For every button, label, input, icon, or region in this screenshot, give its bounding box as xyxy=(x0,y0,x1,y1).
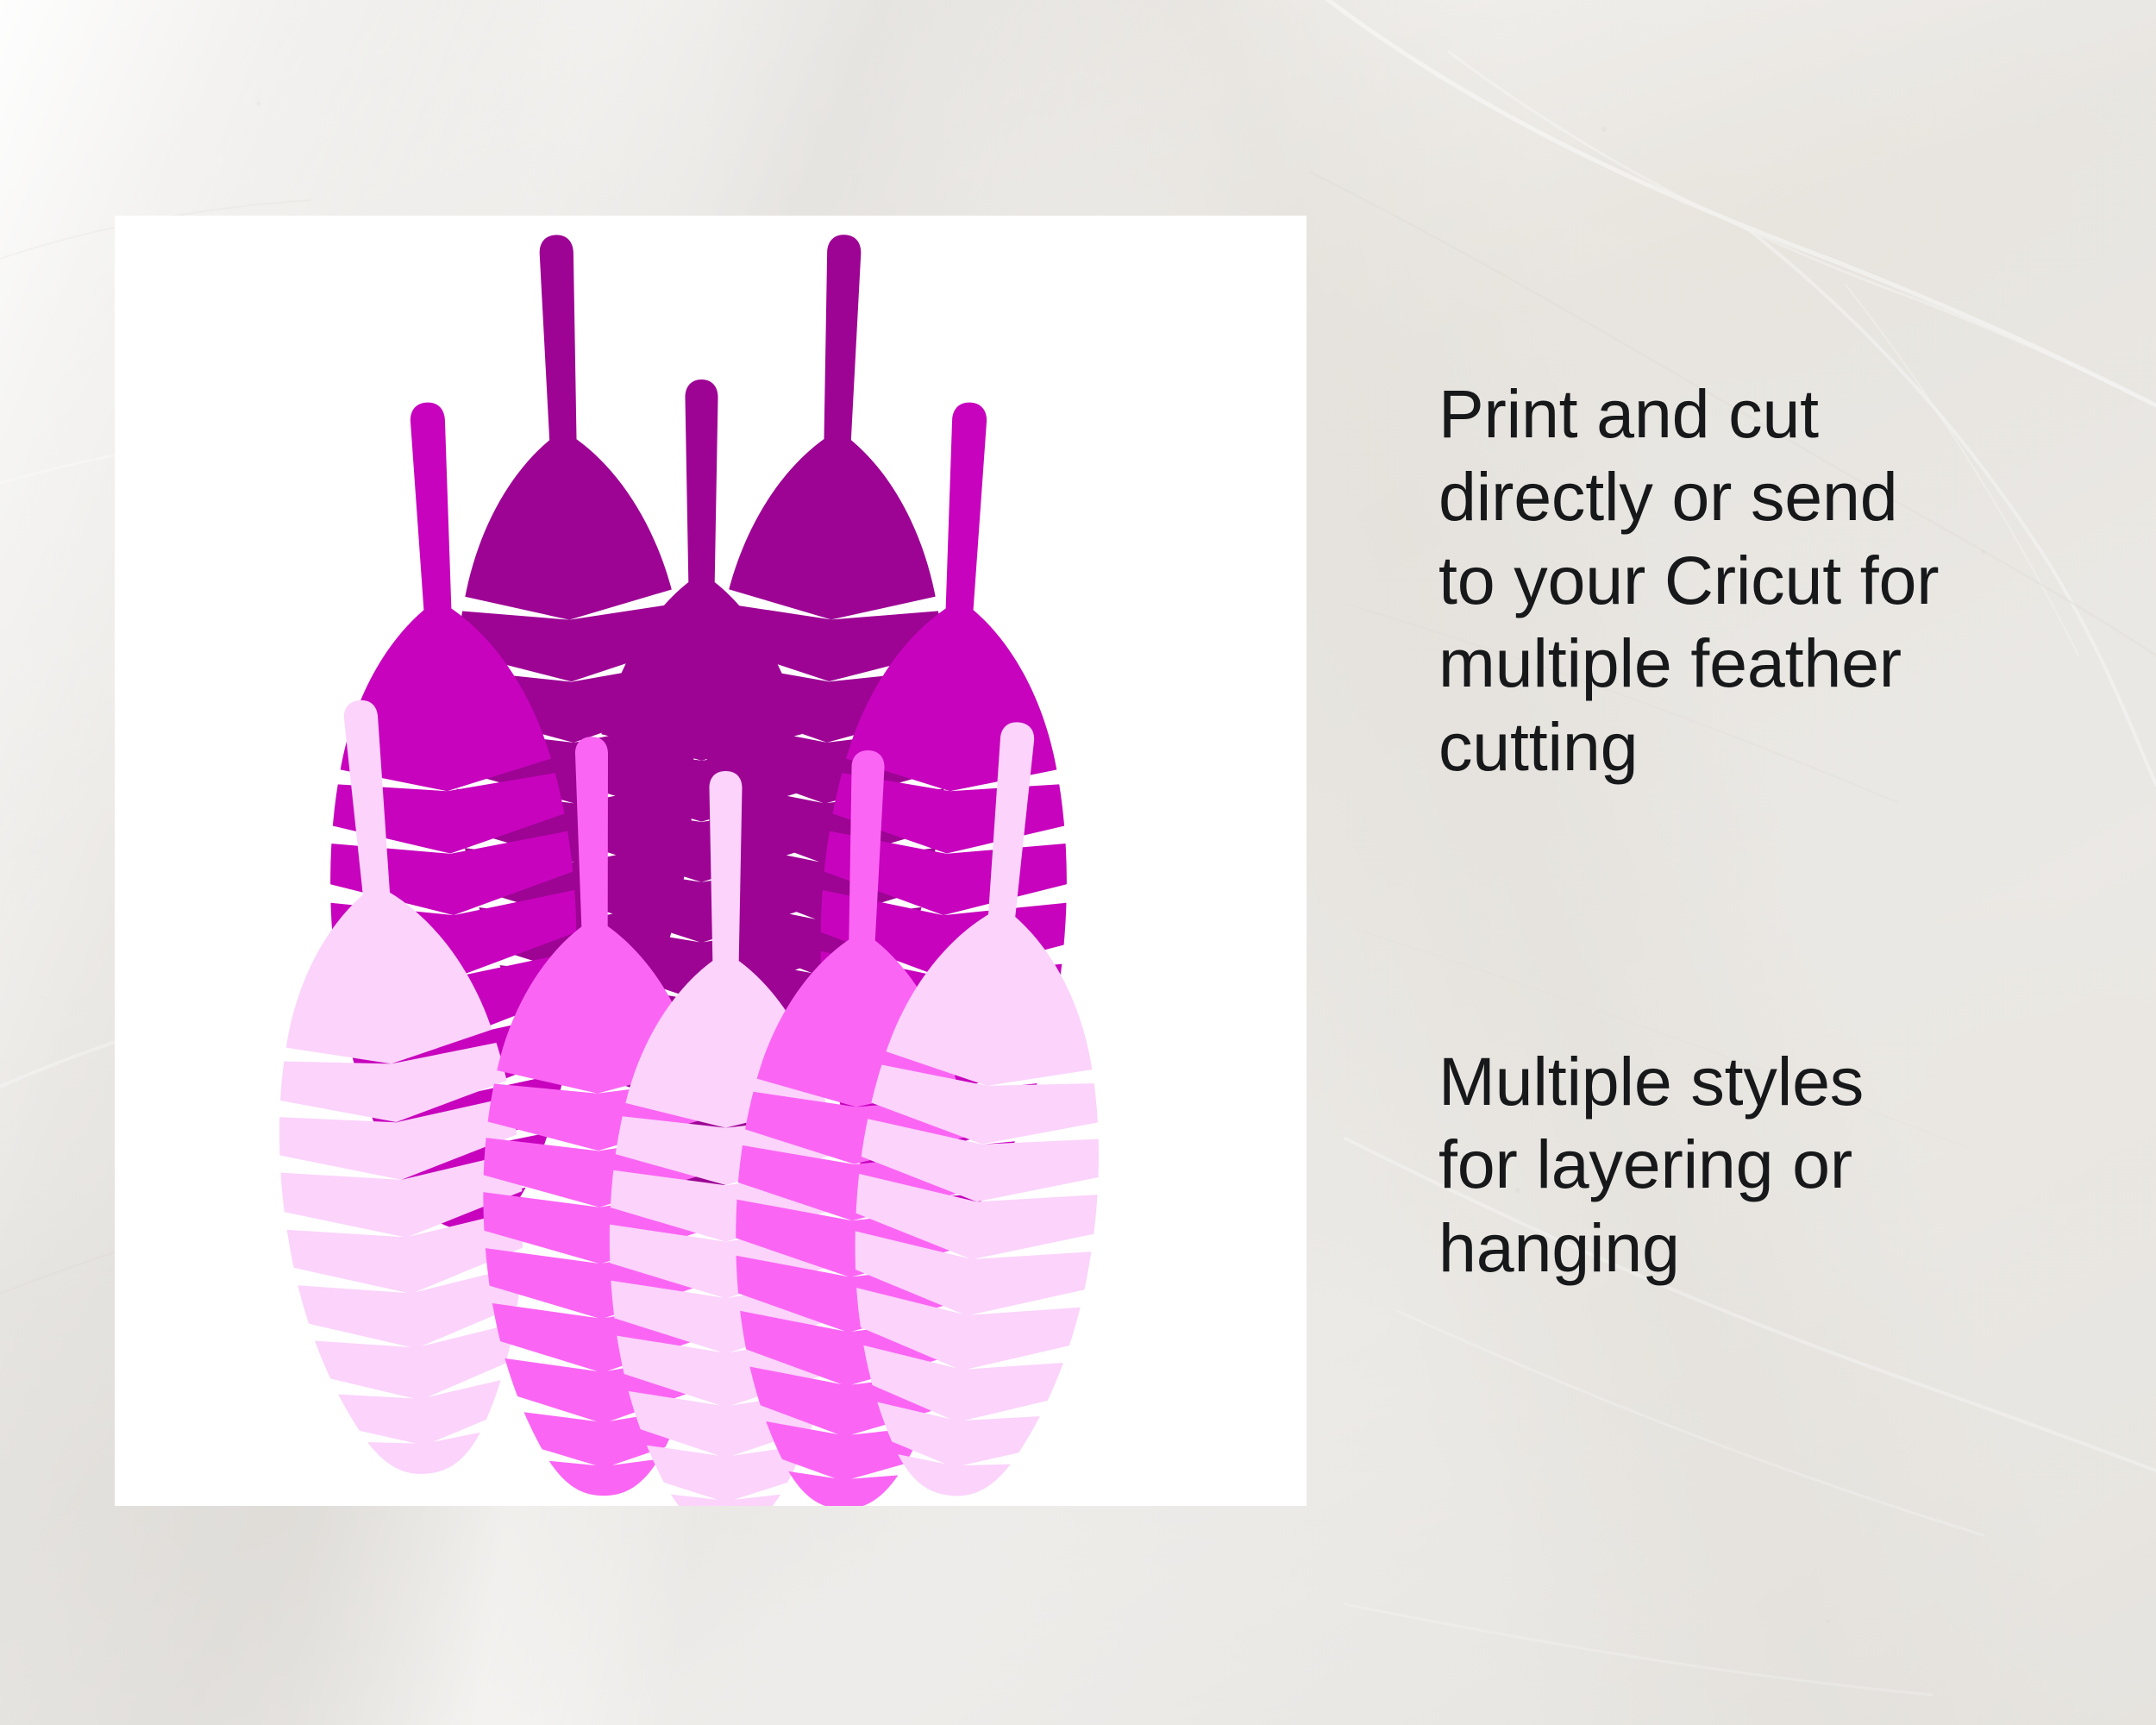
feather-illustration xyxy=(115,216,1307,1506)
feature-print-and-cut: Print and cut directly or send to your C… xyxy=(1438,373,1990,788)
feature-multiple-styles: Multiple styles for layering or hanging xyxy=(1438,1040,1990,1289)
product-promo-slide: Print and cut directly or send to your C… xyxy=(0,0,2156,1725)
product-card xyxy=(115,216,1307,1506)
feature-text-column: Print and cut directly or send to your C… xyxy=(1438,0,2008,1725)
